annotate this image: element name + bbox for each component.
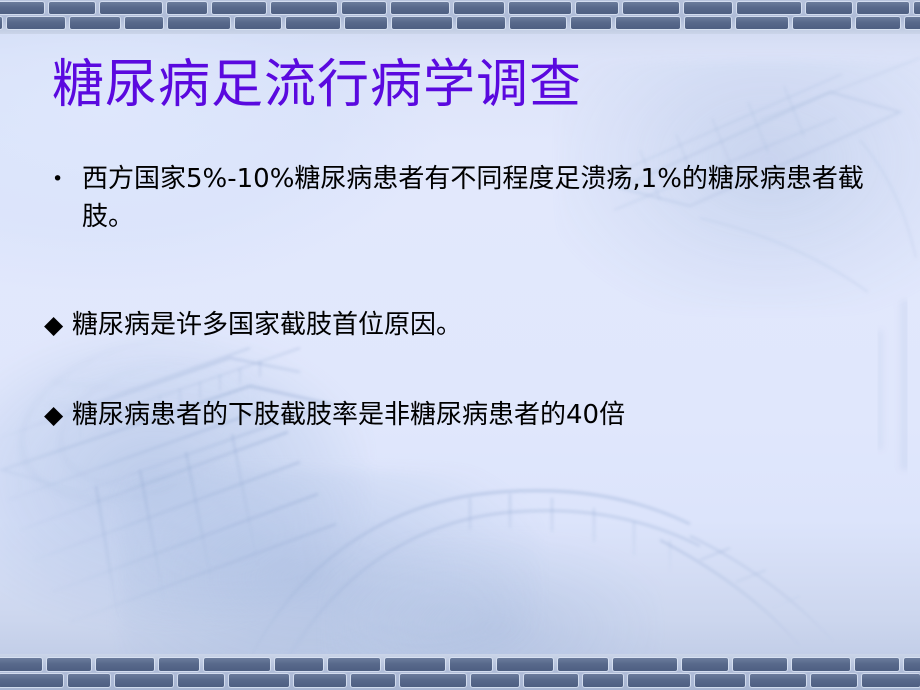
brick <box>125 17 163 29</box>
brick <box>558 658 608 671</box>
brick <box>733 658 787 671</box>
brick <box>905 17 920 29</box>
brick <box>583 674 623 687</box>
brick <box>7 17 65 29</box>
brick <box>685 17 731 29</box>
brick <box>286 17 340 29</box>
brick <box>628 674 690 687</box>
brick <box>576 2 618 14</box>
brick <box>70 17 120 29</box>
brick <box>736 17 788 29</box>
brick <box>737 2 801 14</box>
bullet-item-2-text: 糖尿病是许多国家截肢首位原因。 <box>72 306 894 344</box>
brick <box>328 658 380 671</box>
brick <box>454 2 504 14</box>
brick <box>811 674 857 687</box>
brick <box>235 17 281 29</box>
slide-title: 糖尿病足流行病学调查 <box>52 58 582 113</box>
brick <box>168 17 230 29</box>
brick <box>68 674 110 687</box>
brick-row-top-upper <box>0 2 920 14</box>
diamond-bullet-icon: ◆ <box>44 396 72 434</box>
brick <box>450 658 492 671</box>
brick <box>47 658 91 671</box>
brick <box>613 658 677 671</box>
brick <box>904 658 920 671</box>
bullet-spacer-2 <box>44 344 894 396</box>
brick <box>351 674 395 687</box>
brick <box>855 658 899 671</box>
brick <box>159 658 199 671</box>
diamond-bullet-icon: ◆ <box>44 306 72 344</box>
brick <box>294 674 346 687</box>
brick <box>167 2 207 14</box>
brick <box>204 658 270 671</box>
brick <box>100 2 162 14</box>
brick <box>684 2 732 14</box>
brick <box>0 17 2 29</box>
bullet-spacer-1 <box>44 236 894 306</box>
brick <box>510 17 566 29</box>
brick <box>682 658 728 671</box>
brick <box>750 674 806 687</box>
brick <box>856 17 900 29</box>
presentation-slide: 糖尿病足流行病学调查 • 西方国家5%-10%糖尿病患者有不同程度足溃疡,1%的… <box>0 0 920 690</box>
brick <box>0 658 42 671</box>
brick <box>497 658 553 671</box>
brick <box>793 17 851 29</box>
bullet-item-2: ◆ 糖尿病是许多国家截肢首位原因。 <box>44 306 894 344</box>
slide-body: • 西方国家5%-10%糖尿病患者有不同程度足溃疡,1%的糖尿病患者截肢。 ◆ … <box>44 160 894 434</box>
brick <box>0 2 44 14</box>
brick <box>96 658 154 671</box>
brick <box>115 674 173 687</box>
brick <box>914 2 920 14</box>
brick <box>178 674 224 687</box>
brick-row-bottom-upper <box>0 658 920 671</box>
brick <box>345 17 387 29</box>
brick <box>806 2 852 14</box>
bullet-item-3: ◆ 糖尿病患者的下肢截肢率是非糖尿病患者的40倍 <box>44 396 894 434</box>
brick <box>49 2 95 14</box>
brick <box>391 2 449 14</box>
brick-row-top-lower <box>0 17 920 29</box>
round-bullet-icon: • <box>44 160 82 198</box>
brick <box>212 2 266 14</box>
brick <box>229 674 289 687</box>
bullet-item-1: • 西方国家5%-10%糖尿病患者有不同程度足溃疡,1%的糖尿病患者截肢。 <box>44 160 894 236</box>
brick <box>457 17 505 29</box>
brick <box>862 674 920 687</box>
brick <box>0 674 63 687</box>
brick <box>471 674 519 687</box>
bullet-item-1-text: 西方国家5%-10%糖尿病患者有不同程度足溃疡,1%的糖尿病患者截肢。 <box>82 160 894 236</box>
brick <box>392 17 452 29</box>
brick <box>275 658 323 671</box>
brick <box>342 2 386 14</box>
top-brick-border <box>0 0 920 34</box>
brick <box>524 674 578 687</box>
brick-row-bottom-lower <box>0 674 920 687</box>
brick <box>857 2 909 14</box>
brick <box>271 2 337 14</box>
brick <box>385 658 445 671</box>
brick <box>509 2 571 14</box>
brick <box>695 674 745 687</box>
brick <box>792 658 850 671</box>
brick <box>400 674 466 687</box>
brick <box>616 17 680 29</box>
brick <box>571 17 611 29</box>
bullet-item-3-text: 糖尿病患者的下肢截肢率是非糖尿病患者的40倍 <box>72 396 894 434</box>
brick <box>623 2 679 14</box>
bottom-brick-border <box>0 654 920 690</box>
